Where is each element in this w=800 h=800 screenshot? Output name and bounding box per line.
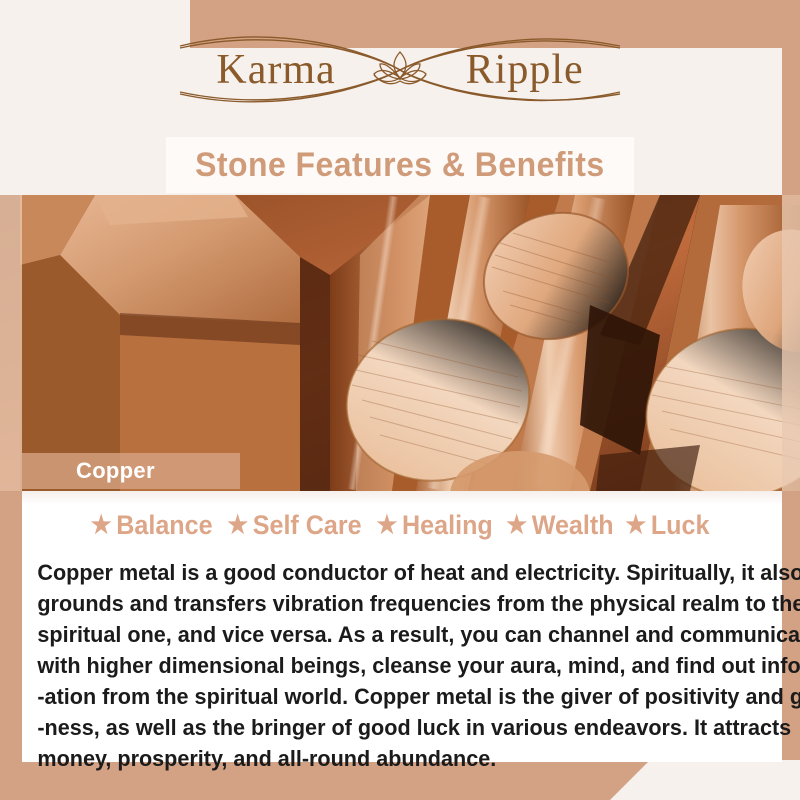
- description-line: spiritual one, and vice versa. As a resu…: [37, 619, 738, 650]
- benefit-item: ★ Balance: [91, 510, 217, 541]
- hero-right-overlay: [782, 195, 800, 491]
- benefit-item: ★ Healing: [376, 510, 497, 541]
- brand-name-left: Karma: [216, 46, 335, 94]
- benefit-item: ★ Self Care: [228, 510, 367, 541]
- hero-left-overlay: [0, 195, 22, 491]
- benefit-label: Self Care: [253, 510, 362, 541]
- benefits-row: ★ Balance ★ Self Care ★ Healing ★ Wealth…: [22, 491, 782, 553]
- title-banner: Stone Features & Benefits: [166, 137, 634, 193]
- star-icon: ★: [376, 513, 397, 538]
- description-text: Copper metal is a good conductor of heat…: [22, 553, 752, 774]
- star-icon: ★: [506, 513, 527, 538]
- content-panel: ★ Balance ★ Self Care ★ Healing ★ Wealth…: [22, 491, 782, 762]
- hero-caption-label: Copper: [22, 458, 155, 484]
- star-icon: ★: [91, 513, 112, 538]
- star-icon: ★: [228, 513, 249, 538]
- star-icon: ★: [626, 513, 647, 538]
- benefit-item: ★ Luck: [626, 510, 715, 541]
- brand-logo: Karma Ripple: [0, 26, 800, 114]
- description-line: with higher dimensional beings, cleanse …: [37, 650, 738, 681]
- benefit-label: Wealth: [531, 510, 613, 541]
- hero-caption-band: Copper: [22, 453, 240, 489]
- brand-name-right: Ripple: [466, 46, 584, 94]
- benefit-item: ★ Wealth: [506, 510, 618, 541]
- hero-image: Copper: [0, 195, 800, 491]
- description-line: money, prosperity, and all-round abundan…: [37, 743, 738, 774]
- description-line: grounds and transfers vibration frequenc…: [37, 588, 738, 619]
- description-line: -ation from the spiritual world. Copper …: [37, 681, 738, 712]
- benefit-label: Healing: [402, 510, 493, 541]
- infographic-page: Karma Ripple Stone Features & Benefits: [0, 0, 800, 800]
- description-line: -ness, as well as the bringer of good lu…: [37, 712, 738, 743]
- benefit-label: Luck: [651, 510, 710, 541]
- description-line: Copper metal is a good conductor of heat…: [37, 557, 738, 588]
- copper-bars-photo: [0, 195, 800, 491]
- benefit-label: Balance: [117, 510, 213, 541]
- page-title: Stone Features & Benefits: [195, 146, 605, 185]
